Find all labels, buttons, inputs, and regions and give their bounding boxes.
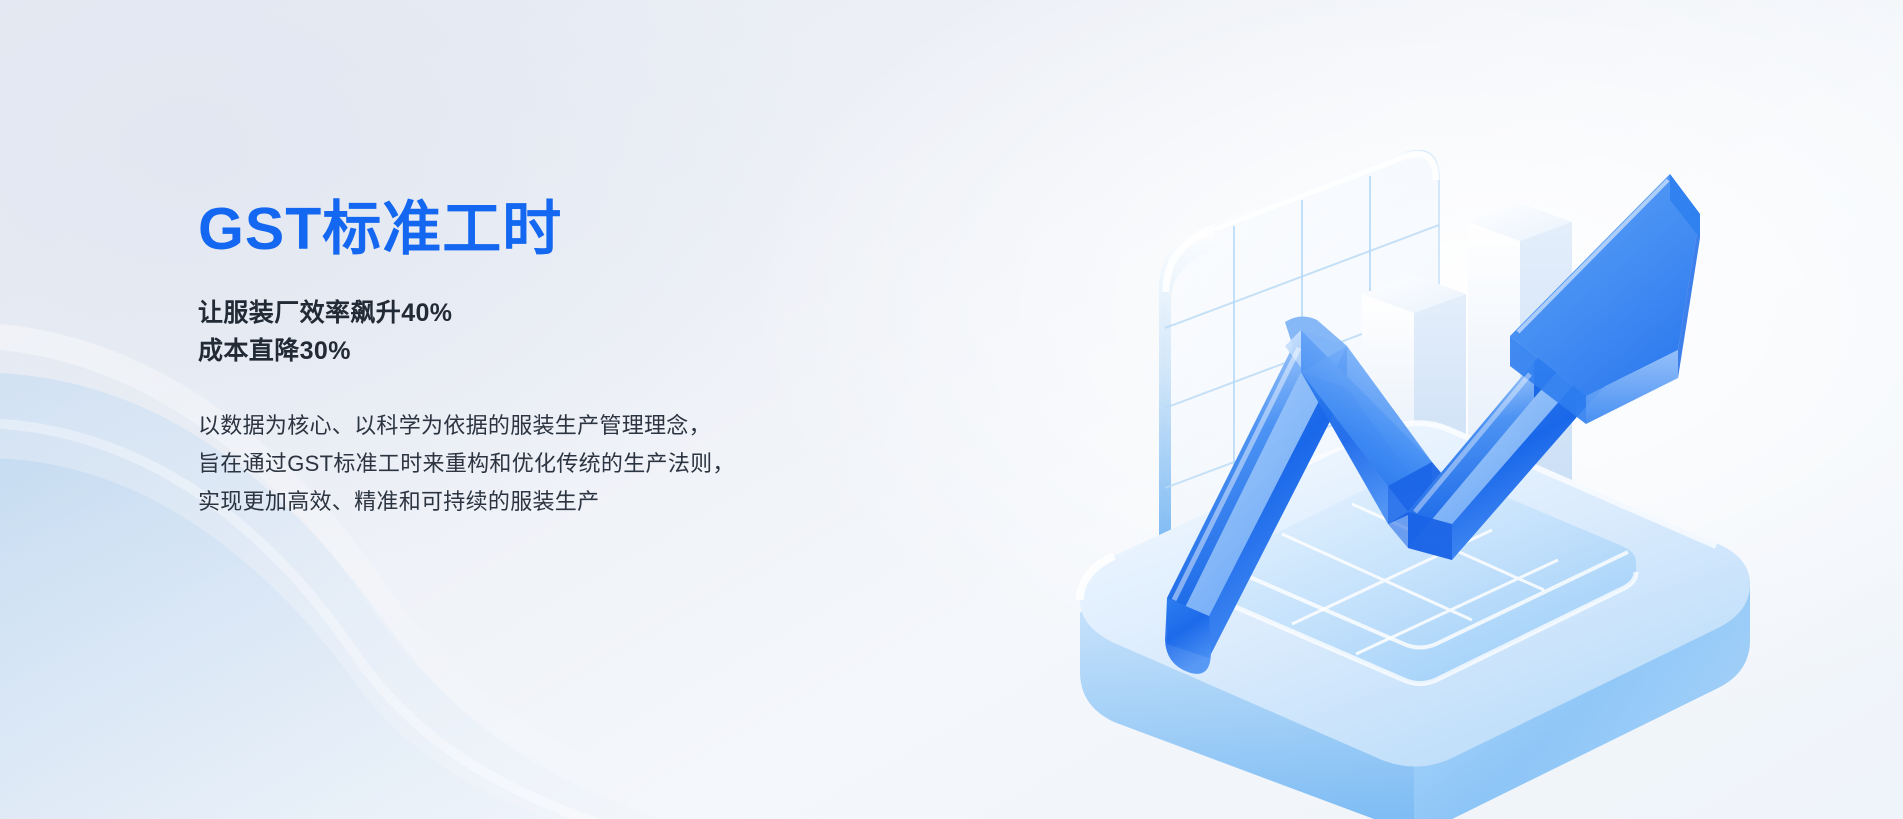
hero-text-block: GST标准工时 让服装厂效率飙升40% 成本直降30% 以数据为核心、以科学为依… [198,198,918,521]
description-line-1: 以数据为核心、以科学为依据的服装生产管理理念， [198,407,918,445]
growth-chart-illustration [952,0,1903,819]
growth-chart-svg [952,0,1903,819]
page-title: GST标准工时 [198,198,918,262]
subtitle-line-1: 让服装厂效率飙升40% [198,294,918,333]
description-line-3: 实现更加高效、精准和可持续的服装生产 [198,483,918,521]
description-group: 以数据为核心、以科学为依据的服装生产管理理念， 旨在通过GST标准工时来重构和优… [198,407,918,520]
hero-banner: GST标准工时 让服装厂效率飙升40% 成本直降30% 以数据为核心、以科学为依… [0,0,1903,819]
description-line-2: 旨在通过GST标准工时来重构和优化传统的生产法则， [198,445,918,483]
subtitle-line-2: 成本直降30% [198,332,918,371]
subtitle-group: 让服装厂效率飙升40% 成本直降30% [198,294,918,372]
